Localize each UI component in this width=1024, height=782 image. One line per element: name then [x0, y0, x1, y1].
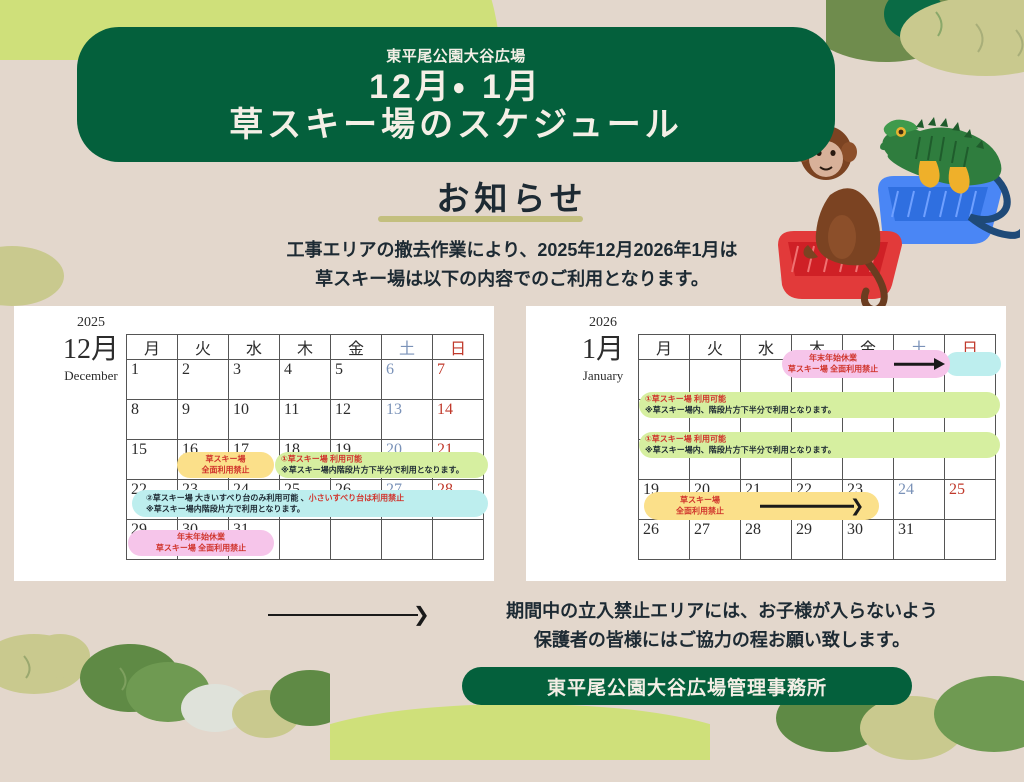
day-cell[interactable]: 10	[229, 400, 280, 440]
day-cell[interactable]: 18	[280, 440, 331, 480]
banner-line1: 12月・ 1月	[369, 68, 543, 106]
day-cell[interactable]: 12	[331, 400, 382, 440]
weekday-sat: 土	[894, 335, 945, 360]
notice-underline	[378, 216, 583, 222]
day-cell[interactable]: 28	[433, 480, 484, 520]
day-cell[interactable]	[280, 520, 331, 560]
day-cell[interactable]: 2	[178, 360, 229, 400]
day-cell[interactable]: 5	[639, 400, 690, 440]
day-cell[interactable]: 22	[792, 480, 843, 520]
day-cell[interactable]: 29	[127, 520, 178, 560]
day-cell[interactable]: 8	[792, 400, 843, 440]
day-cell[interactable]: 11	[280, 400, 331, 440]
table-row: 26 27 28 29 30 31	[639, 520, 996, 560]
day-cell[interactable]: 17	[229, 440, 280, 480]
day-cell[interactable]: 15	[792, 440, 843, 480]
weekday-sat: 土	[382, 335, 433, 360]
day-cell[interactable]: 31	[894, 520, 945, 560]
banner-line2: 草スキー場のスケジュール	[229, 106, 683, 144]
table-row: 8 9 10 11 12 13 14	[127, 400, 484, 440]
day-cell[interactable]: 1	[127, 360, 178, 400]
day-cell[interactable]: 15	[127, 440, 178, 480]
day-cell[interactable]: 21	[433, 440, 484, 480]
notice-body: 工事エリアの撤去作業により、2025年12月2026年1月は 草スキー場は以下の…	[0, 236, 1024, 294]
day-cell[interactable]: 4	[280, 360, 331, 400]
weekday-mon: 月	[127, 335, 178, 360]
calendar-january-year: 2026	[548, 314, 658, 333]
banner-subtitle: 東平尾公園大谷広場	[386, 45, 526, 66]
day-cell	[945, 520, 996, 560]
day-cell[interactable]: 25	[280, 480, 331, 520]
day-cell[interactable]: 17	[894, 440, 945, 480]
weekday-fri: 金	[331, 335, 382, 360]
day-cell[interactable]: 18	[945, 440, 996, 480]
trees-bottom-right-icon	[762, 648, 1024, 768]
day-cell[interactable]: 14	[741, 440, 792, 480]
office-button[interactable]: 東平尾公園大谷広場管理事務所	[462, 667, 912, 705]
weekday-wed: 水	[741, 335, 792, 360]
day-cell[interactable]: 7	[741, 400, 792, 440]
day-cell[interactable]: 27	[690, 520, 741, 560]
calendar-january-grid: 月 火 水 木 金 土 日 1 2 3 4	[638, 334, 996, 560]
day-cell[interactable]: 16	[843, 440, 894, 480]
table-row: 15 16 17 18 19 20 21	[127, 440, 484, 480]
day-cell[interactable]	[433, 520, 484, 560]
notice-body-line1: 工事エリアの撤去作業により、2025年12月2026年1月は	[0, 236, 1024, 265]
day-cell[interactable]: 5	[331, 360, 382, 400]
day-cell[interactable]: 6	[690, 400, 741, 440]
trees-bottom-left-icon	[0, 632, 330, 782]
footer-arrow-icon: ❯	[268, 608, 440, 622]
day-cell[interactable]: 23	[178, 480, 229, 520]
day-cell[interactable]: 20	[382, 440, 433, 480]
day-cell	[639, 360, 690, 400]
weekday-sun: 日	[945, 335, 996, 360]
notice-title: お知らせ	[0, 172, 1024, 220]
calendar-december: 2025 12月 December 月 火 水 木 金 土 日 1 2	[14, 306, 494, 581]
day-cell[interactable]: 14	[433, 400, 484, 440]
day-cell[interactable]: 31	[229, 520, 280, 560]
weekday-mon: 月	[639, 335, 690, 360]
table-row: 29 30 31	[127, 520, 484, 560]
weekday-fri: 金	[843, 335, 894, 360]
day-cell[interactable]: 24	[894, 480, 945, 520]
day-cell[interactable]: 27	[382, 480, 433, 520]
day-cell[interactable]: 21	[741, 480, 792, 520]
day-cell[interactable]: 3	[894, 360, 945, 400]
day-cell[interactable]: 30	[843, 520, 894, 560]
day-cell[interactable]: 23	[843, 480, 894, 520]
day-cell[interactable]: 11	[945, 400, 996, 440]
day-cell[interactable]: 2	[843, 360, 894, 400]
weekday-wed: 水	[229, 335, 280, 360]
header-banner: 東平尾公園大谷広場 12月・ 1月 草スキー場のスケジュール	[77, 27, 835, 162]
day-cell[interactable]: 20	[690, 480, 741, 520]
weekday-tue: 火	[178, 335, 229, 360]
table-row: 22 23 24 25 26 27 28	[127, 480, 484, 520]
table-row: 1 2 3 4	[639, 360, 996, 400]
day-cell	[741, 360, 792, 400]
poster-canvas: 東平尾公園大谷広場 12月・ 1月 草スキー場のスケジュール お知らせ 工事エリ…	[0, 0, 1024, 724]
notice-body-line2: 草スキー場は以下の内容でのご利用となります。	[0, 265, 1024, 294]
day-cell[interactable]: 30	[178, 520, 229, 560]
calendar-december-grid: 月 火 水 木 金 土 日 1 2 3 4 5 6 7	[126, 334, 484, 560]
table-row: 1 2 3 4 5 6 7	[127, 360, 484, 400]
day-cell[interactable]: 19	[639, 480, 690, 520]
day-cell[interactable]: 28	[741, 520, 792, 560]
day-cell[interactable]: 16	[178, 440, 229, 480]
weekday-tue: 火	[690, 335, 741, 360]
day-cell[interactable]: 26	[639, 520, 690, 560]
day-cell[interactable]: 4	[945, 360, 996, 400]
weekday-header-row: 月 火 水 木 金 土 日	[127, 335, 484, 360]
day-cell[interactable]	[382, 520, 433, 560]
table-row: 19 20 21 22 23 24 25	[639, 480, 996, 520]
day-cell[interactable]: 13	[382, 400, 433, 440]
day-cell[interactable]: 7	[433, 360, 484, 400]
day-cell[interactable]: 9	[178, 400, 229, 440]
day-cell[interactable]: 19	[331, 440, 382, 480]
day-cell[interactable]: 22	[127, 480, 178, 520]
footer-text-line1: 期間中の立入禁止エリアには、お子様が入らないよう	[452, 597, 992, 626]
day-cell[interactable]	[331, 520, 382, 560]
weekday-sun: 日	[433, 335, 484, 360]
day-cell[interactable]: 13	[690, 440, 741, 480]
footer-text: 期間中の立入禁止エリアには、お子様が入らないよう 保護者の皆様にはご協力の程お願…	[452, 597, 992, 655]
day-cell[interactable]: 9	[843, 400, 894, 440]
table-row: 5 6 7 8 9 10 11	[639, 400, 996, 440]
day-cell[interactable]: 29	[792, 520, 843, 560]
day-cell[interactable]: 10	[894, 400, 945, 440]
weekday-thu: 木	[280, 335, 331, 360]
day-cell[interactable]: 25	[945, 480, 996, 520]
day-cell[interactable]: 6	[382, 360, 433, 400]
day-cell[interactable]: 26	[331, 480, 382, 520]
weekday-header-row: 月 火 水 木 金 土 日	[639, 335, 996, 360]
day-cell[interactable]: 24	[229, 480, 280, 520]
calendar-december-year: 2025	[36, 314, 146, 333]
day-cell[interactable]: 3	[229, 360, 280, 400]
day-cell[interactable]: 12	[639, 440, 690, 480]
day-cell[interactable]: 8	[127, 400, 178, 440]
weekday-thu: 木	[792, 335, 843, 360]
footer-text-line2: 保護者の皆様にはご協力の程お願い致します。	[452, 626, 992, 655]
calendar-january: 2026 1月 January 月 火 水 木 金 土 日	[526, 306, 1006, 581]
table-row: 12 13 14 15 16 17 18	[639, 440, 996, 480]
day-cell[interactable]: 1	[792, 360, 843, 400]
day-cell	[690, 360, 741, 400]
